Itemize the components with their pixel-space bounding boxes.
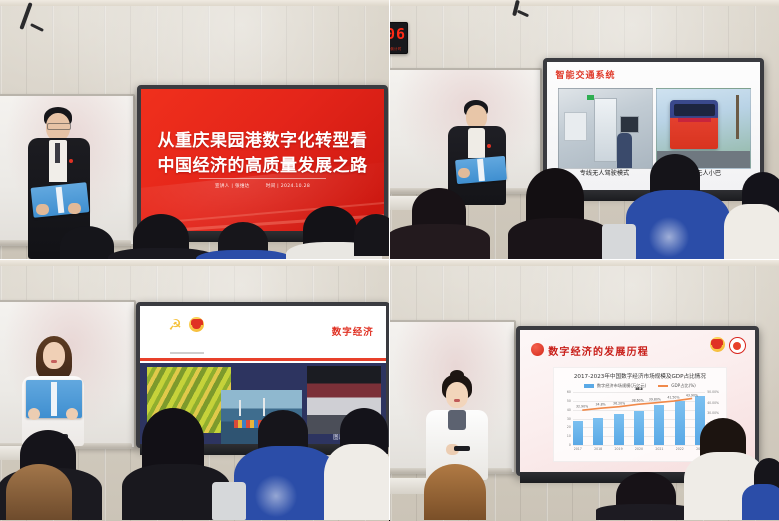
slide-heading: 数字经济 [332,324,374,338]
presenter-tie-icon [55,143,60,163]
interior-window [564,112,587,141]
y-tick: 30 [567,417,571,421]
side-desk [390,478,428,494]
timer-value: 06 [390,25,407,43]
audience-shoulders [508,218,610,259]
slide-subrule [170,352,204,354]
countdown-timer: 06 倒计时 [390,22,408,54]
presenter-glasses-icon [47,123,71,130]
folder-page [477,159,485,181]
presenter-scarf-icon [448,410,466,430]
bus-interior-mock [559,89,653,168]
audience-logo-icon [254,474,298,518]
audience-shoulders [324,444,389,520]
presentation-clicker [454,446,470,451]
youth-league-badge-icon [189,317,204,332]
photo-grid: 从重庆果园港数字化转型看 中国经济的高质量发展之路 宣讲人 | 张维达 时间 |… [0,0,779,520]
audience-head [354,214,389,256]
street-tree-icon [736,95,739,139]
slide-heading: 数字经济的发展历程 [548,343,649,358]
presenter-hand-right [66,408,78,420]
port-crane-icon [263,398,265,416]
slide-title-red: 从重庆果园港数字化转型看 中国经济的高质量发展之路 宣讲人 | 张维达 时间 |… [141,89,384,231]
chart-x-axis: 2017 2018 2019 2020 2021 2022 2023 [573,447,705,451]
chair-back [212,482,246,520]
male-presenter [442,100,510,205]
y-tick: 50 [567,399,571,403]
audience-head [60,226,114,259]
x-tick: 2018 [593,447,603,451]
bus-led-sign [678,118,711,121]
bus-window [674,104,715,117]
slide-meta-presenter: 宣讲人 | 张维达 [215,183,250,189]
ceiling-rail [0,260,389,266]
hammer-sickle-icon: ☭ [167,317,183,333]
interior-passenger [617,133,632,168]
slide-photo-interior [558,88,654,169]
panel-bottom-left: ☭ 数字经济 图片来源：人民网 [0,260,389,521]
legend-label-line: GDP占比(%) [671,383,696,388]
y-tick: 60 [567,390,571,394]
slide-meta: 宣讲人 | 张维达 时间 | 2024.10.28 [141,183,384,189]
slide-bullet-icon [531,343,544,356]
panel-top-right: 06 倒计时 智能交通系统 [390,0,779,259]
smart-display[interactable]: 从重庆果园港数字化转型看 中国经济的高质量发展之路 宣讲人 | 张维达 时间 |… [137,85,388,235]
audience-shoulders [596,504,696,520]
school-seal-emblem-icon [729,337,746,354]
x-tick: 2020 [634,447,644,451]
party-emblem-icon: ☭ [167,317,183,333]
slide-divider [199,178,325,179]
slide-heading: 智能交通系统 [556,68,616,81]
timer-label: 倒计时 [390,46,407,51]
audience-shoulders [196,250,292,259]
presenter-tee [468,128,485,158]
x-tick: 2017 [573,447,583,451]
x-tick: 2022 [675,447,685,451]
presenter-lapel-pin-icon [487,144,491,148]
interior-door [594,98,617,162]
chair-back [602,224,636,259]
audience-head [424,464,486,520]
presenter-hand-right [68,203,81,214]
audience-head [142,408,204,472]
panel-bottom-right: 数字经济的发展历程 2017-2023年中国数字经济市场规模及GDP占比情况 数… [390,260,779,521]
y-tick: 10 [567,434,571,438]
presenter-head [446,382,468,408]
presenter-hand-left [28,408,40,420]
slide-title-line-1: 从重庆果园港数字化转型看 [141,126,384,151]
panel-top-left: 从重庆果园港数字化转型看 中国经济的高质量发展之路 宣讲人 | 张维达 时间 |… [0,0,389,259]
x-tick: 2019 [614,447,624,451]
slide-emblems [710,337,746,354]
presenter-lapel-pin-icon [69,159,73,163]
slide-meta-date: 时间 | 2024.10.28 [266,183,310,189]
legend-item-line: GDP占比(%) [658,383,696,389]
audience-head [6,464,72,520]
y-tick: 0 [569,443,571,447]
chart-title: 2017-2023年中国数字经济市场规模及GDP占比情况 [554,372,726,380]
ceiling-rail [390,0,779,6]
slide-title-line-2: 中国经济的高质量发展之路 [141,151,384,176]
presenter-lips-icon [51,360,57,363]
x-tick: 2021 [654,447,664,451]
presenter-hand-left [36,204,49,215]
y2-tick: 40.00% [707,401,719,405]
y2-tick: 50.00% [707,390,719,394]
youth-league-emblem-icon [189,317,204,332]
audience-shoulders [724,204,779,259]
audience-shoulders [390,224,490,259]
y2-tick: 30.00% [707,411,719,415]
presenter-lips-icon [454,399,460,402]
audience-logo-icon [648,216,690,258]
chart-y-axis: 60 50 40 30 20 10 0 [557,392,572,445]
presenter-bun-icon [450,370,464,380]
presenter-hand [458,168,470,178]
youth-league-emblem-icon [710,337,725,352]
y-tick: 40 [567,408,571,412]
ceiling-rail [390,260,779,266]
chart-plot-area: 27.2 31.3 35.8 39.2 45.5 50.2 56.1 [573,392,705,445]
y-tick: 20 [567,425,571,429]
autonomous-bus [670,100,719,149]
presenter-head [43,342,65,369]
audience-shoulders [742,484,779,520]
display-screen: 从重庆果园港数字化转型看 中国经济的高质量发展之路 宣讲人 | 张维达 时间 |… [141,89,384,231]
bar-value-label: 56.1 [635,387,642,391]
interior-screen [620,116,639,134]
female-presenter [18,336,90,446]
chart-line-series [573,392,705,445]
slide-accent-band [140,358,386,361]
interior-sign-icon [587,95,594,101]
ceiling-rail [0,0,389,6]
port-crane-icon [239,400,241,416]
folder-page [51,382,58,415]
folder-page [55,187,64,214]
